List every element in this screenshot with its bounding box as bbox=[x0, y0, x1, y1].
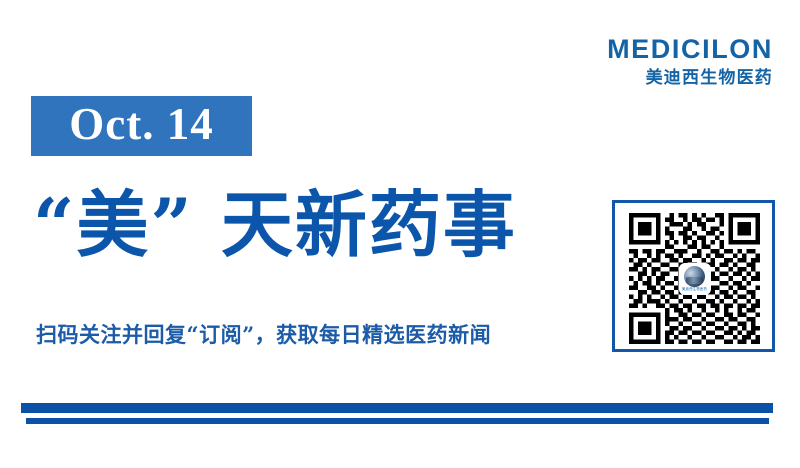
qr-logo-caption: 美迪西生物医药 bbox=[682, 288, 707, 291]
footer-rule-thin bbox=[26, 418, 769, 424]
brand-name: MEDICILON bbox=[607, 36, 773, 63]
qr-code-panel[interactable]: 美迪西生物医药 bbox=[612, 200, 775, 352]
date-badge-label: Oct. 14 bbox=[69, 102, 213, 150]
brand-name-chinese: 美迪西生物医药 bbox=[607, 70, 773, 87]
qr-logo-photo-icon bbox=[684, 266, 705, 287]
qr-center-logo: 美迪西生物医药 bbox=[679, 263, 711, 295]
footer-rule-thick bbox=[21, 403, 773, 413]
qr-code-image[interactable]: 美迪西生物医药 bbox=[629, 213, 760, 344]
page-title: “美” 天新药事 bbox=[33, 189, 517, 261]
brand-logo: MEDICILON 美迪西生物医药 bbox=[607, 36, 773, 87]
date-badge: Oct. 14 bbox=[31, 96, 252, 156]
subtitle-text: 扫码关注并回复“订阅”，获取每日精选医药新闻 bbox=[36, 322, 491, 347]
poster-canvas: MEDICILON 美迪西生物医药 Oct. 14 “美” 天新药事 扫码关注并… bbox=[0, 0, 800, 468]
